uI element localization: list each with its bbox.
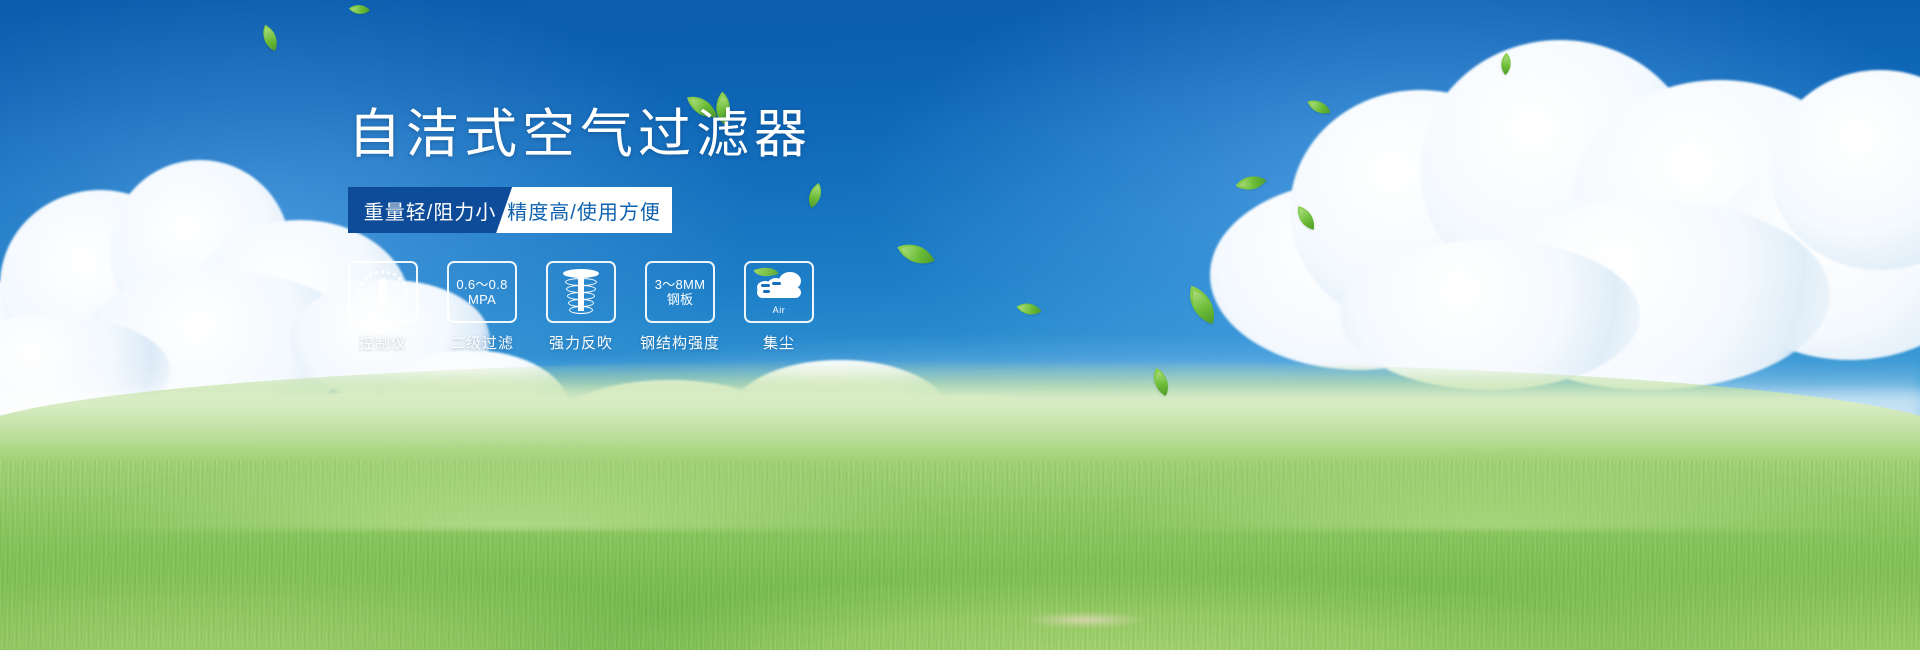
gauge-label-no: NO	[355, 295, 363, 301]
feature-icon-box: 3〜8MM 钢板	[645, 261, 715, 323]
gauge-icon: NO OFF	[356, 270, 410, 314]
feature-caption: 钢结构强度	[640, 332, 720, 353]
dirt-patch	[1020, 612, 1150, 628]
subtitle-tabs: 重量轻/阻力小 精度高/使用方便	[348, 187, 672, 233]
feature-item-controller[interactable]: NO OFF 控制仪	[348, 261, 418, 353]
gauge-label-off: OFF	[397, 307, 408, 313]
page-title: 自洁式空气过滤器	[348, 108, 1068, 161]
tab-precision-convenience[interactable]: 精度高/使用方便	[496, 187, 672, 233]
feature-box-text-line1: 3〜8MM	[655, 277, 706, 292]
feature-icon-box: 0.6〜0.8 MPA	[447, 261, 517, 323]
feature-caption: 控制仪	[359, 332, 407, 353]
product-banner: 自洁式空气过滤器 重量轻/阻力小 精度高/使用方便	[0, 0, 1920, 650]
feature-box-text-line2: MPA	[468, 292, 496, 307]
coil-filter-icon	[561, 269, 601, 315]
feature-icon-box: Air	[744, 261, 814, 323]
feature-caption: 二级过滤	[450, 332, 514, 353]
tab-weight-resistance[interactable]: 重量轻/阻力小	[348, 187, 512, 233]
dust-cloud-icon	[753, 270, 805, 304]
feature-caption: 强力反吹	[549, 332, 613, 353]
banner-content: 自洁式空气过滤器 重量轻/阻力小 精度高/使用方便	[348, 108, 1068, 353]
feature-caption: 集尘	[763, 332, 795, 353]
grass-horizon-edge	[0, 392, 1920, 462]
feature-item-blowback[interactable]: 强力反吹	[546, 261, 616, 353]
feature-box-text-line2: 钢板	[667, 292, 694, 307]
feature-item-dust-collection[interactable]: Air 集尘	[744, 261, 814, 353]
feature-item-pressure[interactable]: 0.6〜0.8 MPA 二级过滤	[447, 261, 517, 353]
feature-box-text-line1: 0.6〜0.8	[456, 277, 507, 292]
feature-list: NO OFF 控制仪 0.6〜0.8 MPA 二级过滤	[348, 261, 1068, 353]
feature-icon-box: NO OFF	[348, 261, 418, 323]
icon-label-air: Air	[773, 305, 786, 315]
feature-icon-box	[546, 261, 616, 323]
feature-item-steel[interactable]: 3〜8MM 钢板 钢结构强度	[645, 261, 715, 353]
